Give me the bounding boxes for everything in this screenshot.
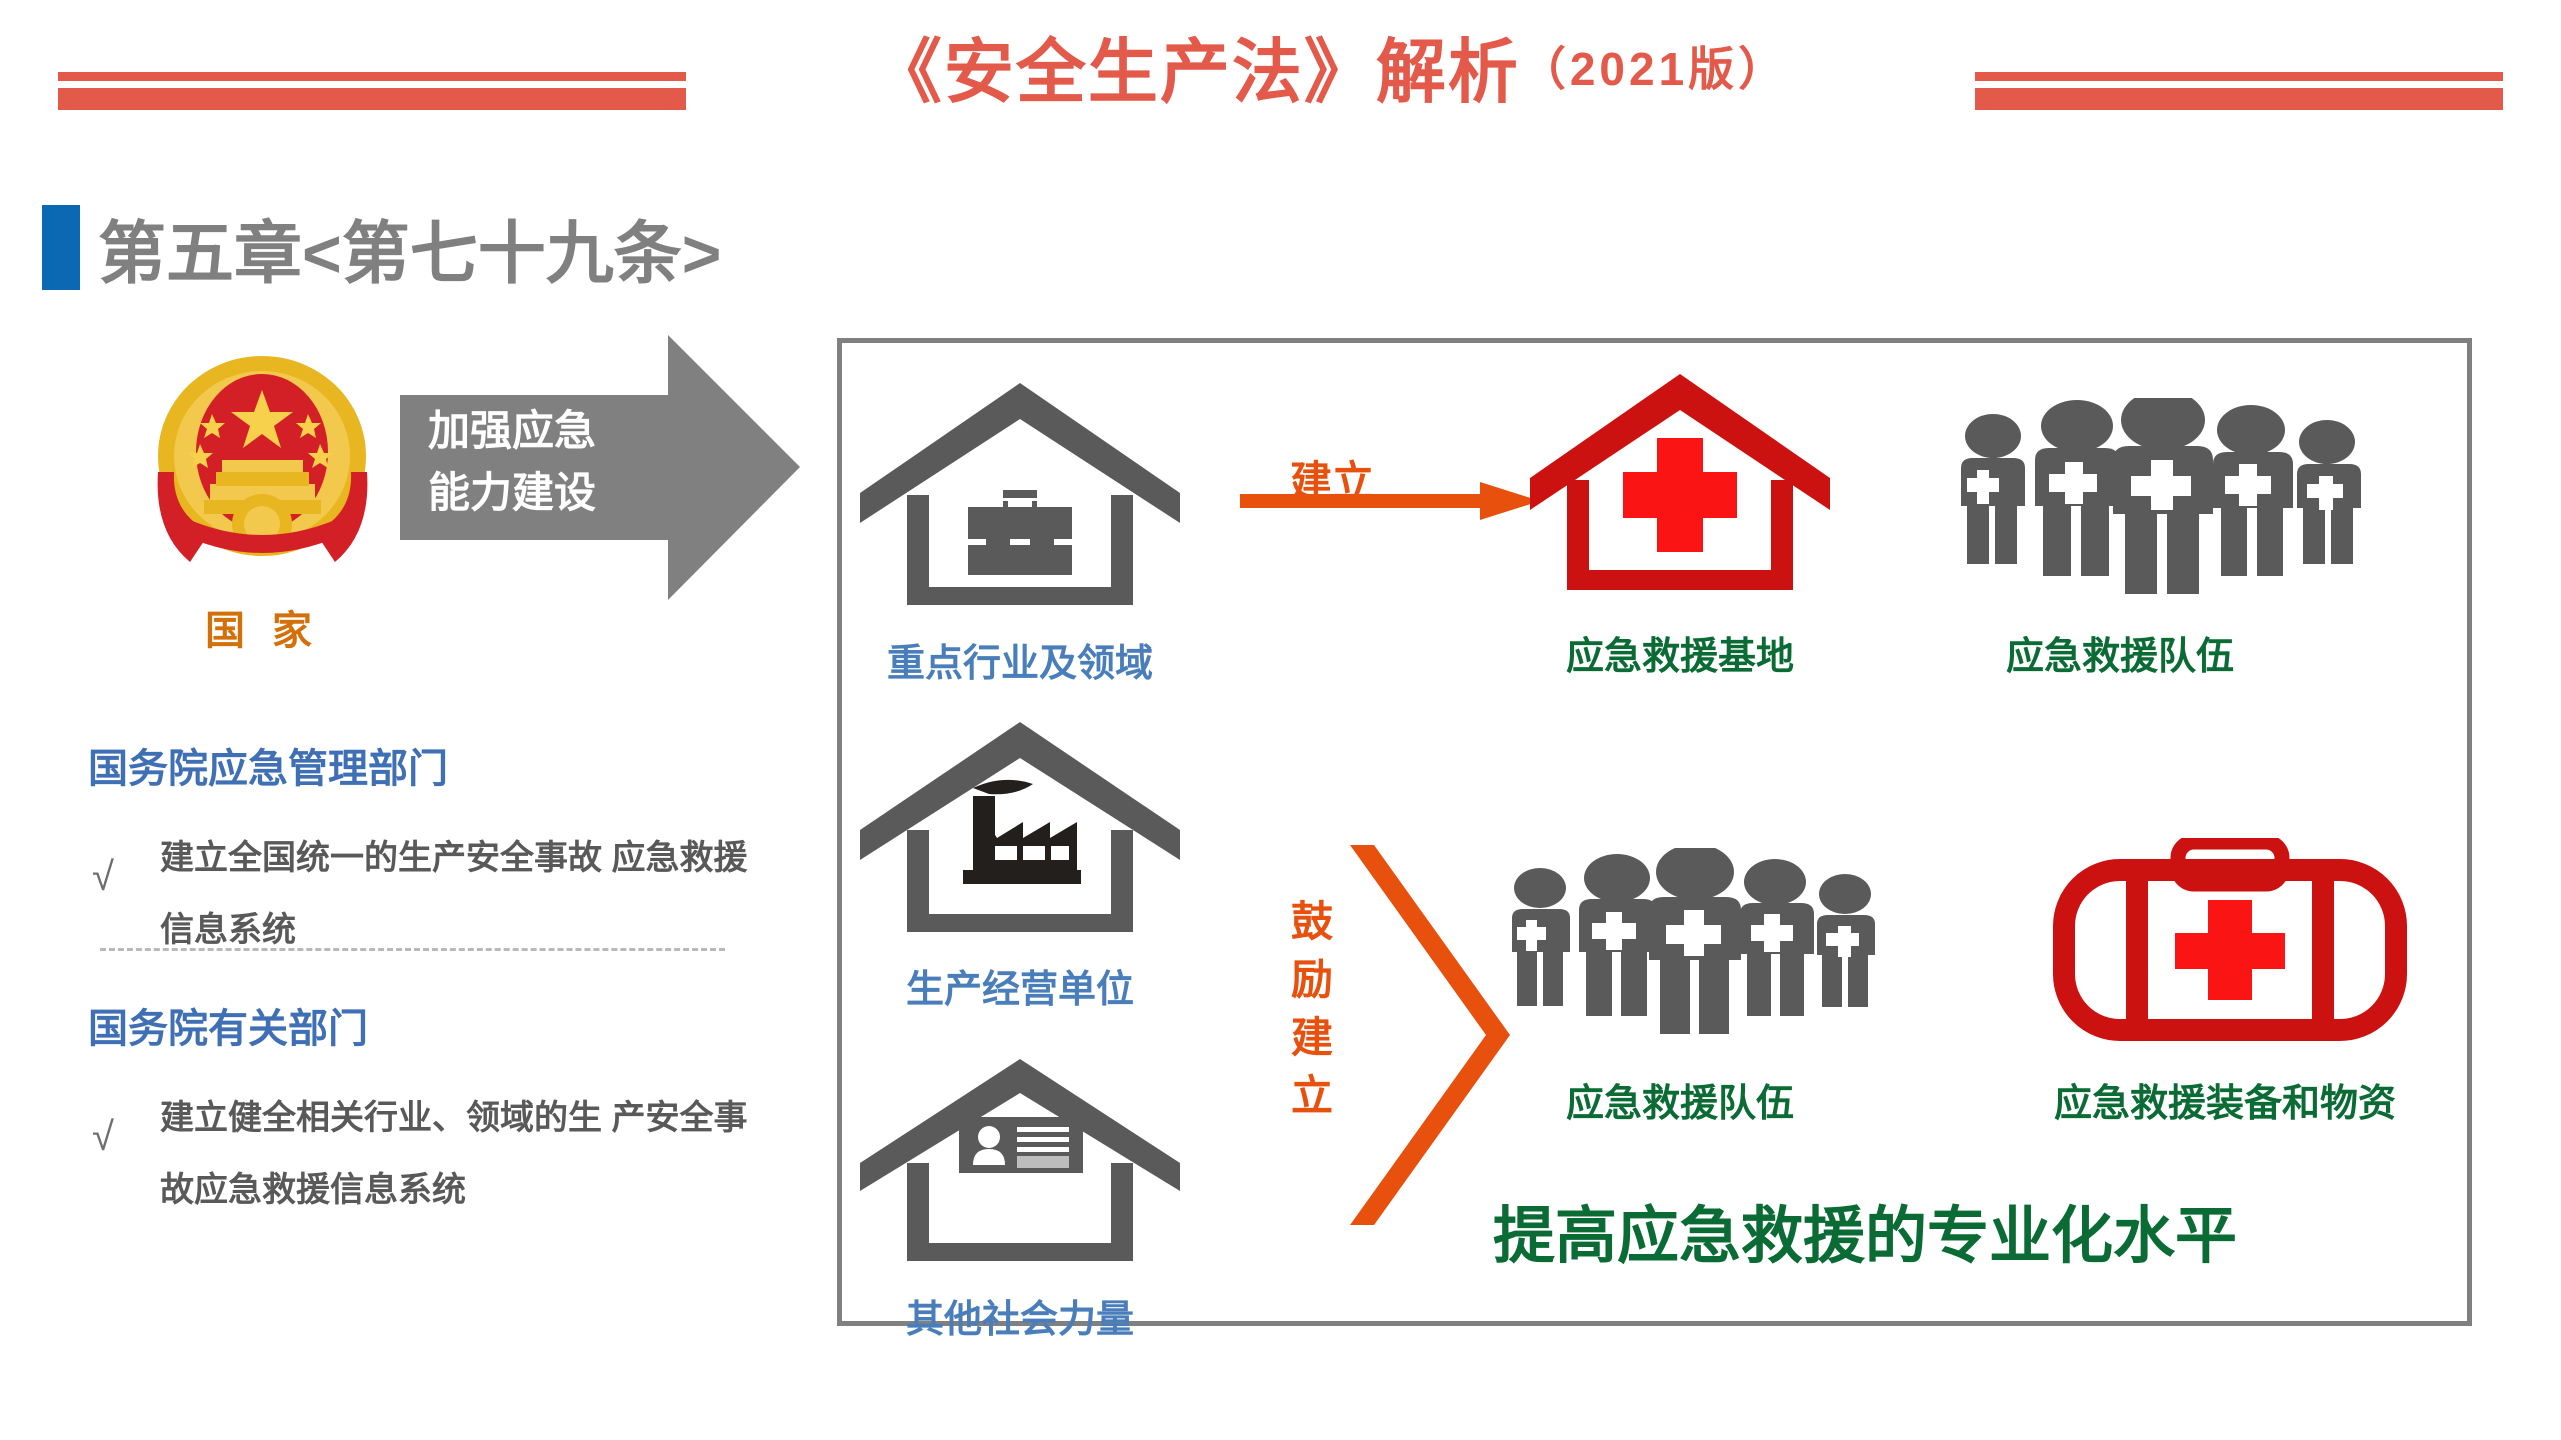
section-heading-emergency-dept: 国务院应急管理部门: [88, 736, 448, 794]
title-rule-right-thick: [1975, 88, 2503, 110]
house-label-other-forces: 其他社会力量: [855, 1288, 1185, 1343]
check-mark-icon-1: √: [92, 855, 114, 900]
arrow-label: 加强应急 能力建设: [428, 400, 668, 524]
house-label-production-unit: 生产经营单位: [855, 958, 1185, 1013]
rescue-team-group-icon-2: [1488, 848, 1888, 1063]
china-national-emblem-icon: [150, 352, 375, 580]
arrow-label-line1: 加强应急: [428, 400, 668, 462]
house-idcard-icon: [855, 1055, 1185, 1290]
house-label-key-industries: 重点行业及领域: [855, 632, 1185, 687]
page-title-version: （2021版）: [1520, 33, 1788, 99]
panel-headline: 提高应急救援的专业化水平: [1450, 1185, 2280, 1275]
outcome-label-rescue-team-1: 应急救援队伍: [1890, 625, 2350, 680]
title-rule-right-thin: [1975, 72, 2503, 81]
section-body-emergency-dept: 建立全国统一的生产安全事故 应急救援信息系统: [160, 822, 780, 966]
house-factory-icon: [855, 718, 1185, 963]
first-aid-kit-icon: [2030, 838, 2430, 1053]
page-title-main: 《安全生产法》解析: [872, 16, 1520, 117]
right-arrow-icon-build: [1240, 460, 1570, 550]
page-title: 《安全生产法》解析 （2021版）: [660, 16, 2000, 116]
rescue-team-group-icon-1: [1935, 398, 2375, 623]
house-briefcase-icon: [855, 375, 1185, 630]
chapter-title: 第五章<第七十九条>: [98, 198, 721, 297]
encourage-connector-label: 鼓励建立: [1286, 893, 1338, 1125]
title-rule-left-thin: [58, 72, 686, 81]
emblem-label: 国 家: [150, 598, 375, 656]
arrow-label-line2: 能力建设: [428, 462, 668, 524]
outcome-label-equipment-supplies: 应急救援装备和物资: [1965, 1072, 2485, 1127]
outcome-label-rescue-base: 应急救援基地: [1480, 625, 1880, 680]
section-heading-related-dept: 国务院有关部门: [88, 996, 368, 1054]
chapter-accent-bar: [42, 205, 80, 290]
section-divider: [100, 948, 725, 951]
check-mark-icon-2: √: [92, 1115, 114, 1160]
red-cross-house-icon: [1525, 370, 1835, 625]
title-rule-left-thick: [58, 88, 686, 110]
outcome-label-rescue-team-2: 应急救援队伍: [1450, 1072, 1910, 1127]
title-band: 《安全生产法》解析 （2021版）: [0, 0, 2561, 130]
section-body-related-dept: 建立健全相关行业、领域的生 产安全事故应急救援信息系统: [160, 1082, 780, 1226]
